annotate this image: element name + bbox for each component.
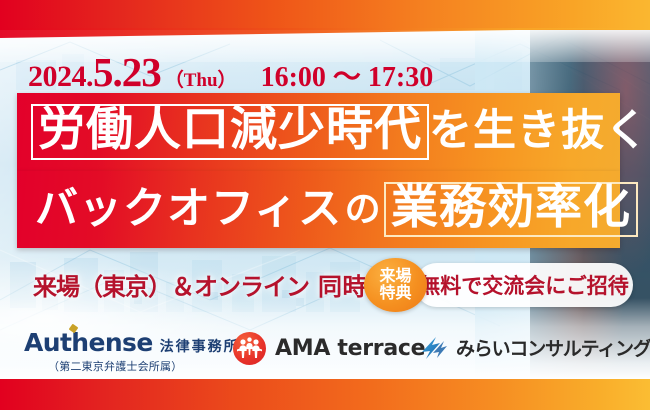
logo-authense-wordmark: Authense <box>24 328 153 357</box>
event-month-day: 5.23 <box>93 48 161 96</box>
perk-pill-text: 無料で交流会にご招待 <box>419 270 629 300</box>
logo-ama-terrace: AMA terrace <box>233 332 425 365</box>
logo-authense: Authense 法律事務所 （第二東京弁護士会所属） <box>24 328 240 374</box>
perk-badge: 来場 特典 <box>364 258 427 312</box>
title-band-line1: 労働人口減少時代 を生き抜く <box>17 93 620 171</box>
bottom-gradient-bar <box>0 379 650 410</box>
event-format-info: 来場（東京）＆オンライン同時開催 <box>33 267 416 302</box>
event-year: 2024. <box>28 60 93 94</box>
event-day-of-week: （Thu） <box>165 65 237 92</box>
logo-authense-word-text: Authense <box>24 328 153 357</box>
logo-authense-jp: 法律事務所 <box>160 336 240 356</box>
logo-mirai-consulting: みらいコンサルティンググループ <box>419 334 650 361</box>
event-format-label: 来場（東京）＆オンライン <box>33 274 309 301</box>
mirai-swoosh-icon <box>419 335 449 361</box>
sponsor-logo-row: Authense 法律事務所 （第二東京弁護士会所属） <box>0 326 650 374</box>
logo-authense-affiliation: （第二東京弁護士会所属） <box>48 358 182 374</box>
title-line2: バックオフィス の 業務効率化 <box>17 171 638 248</box>
event-date-row: 2024. 5.23 （Thu） 16:00 ～ 17:30 <box>28 48 433 90</box>
seminar-banner: 2024. 5.23 （Thu） 16:00 ～ 17:30 労働人口減少時代 … <box>0 0 650 410</box>
perk-badge-line2: 特典 <box>379 285 411 302</box>
title-rest-1: を生き抜く <box>429 110 649 154</box>
perk-pill: 無料で交流会にご招待 <box>415 263 633 307</box>
event-time: 16:00 ～ 17:30 <box>261 55 434 95</box>
title-keyword-1: 労働人口減少時代 <box>31 104 429 160</box>
top-gradient-bar <box>0 0 650 30</box>
ama-terrace-circle-icon <box>233 332 266 365</box>
logo-ama-terrace-text: AMA terrace <box>275 336 425 361</box>
logo-authense-main: Authense 法律事務所 <box>24 328 240 357</box>
title-lead-2: バックオフィス <box>35 188 342 232</box>
logo-mirai-text: みらいコンサルティンググループ <box>456 334 650 361</box>
title-band-line2: バックオフィス の 業務効率化 <box>17 171 620 248</box>
title-particle-2: の <box>345 191 382 228</box>
title-line1: 労働人口減少時代 を生き抜く <box>17 93 634 171</box>
perk-badge-line1: 来場 <box>379 268 411 285</box>
title-keyword-2: 業務効率化 <box>384 182 638 238</box>
